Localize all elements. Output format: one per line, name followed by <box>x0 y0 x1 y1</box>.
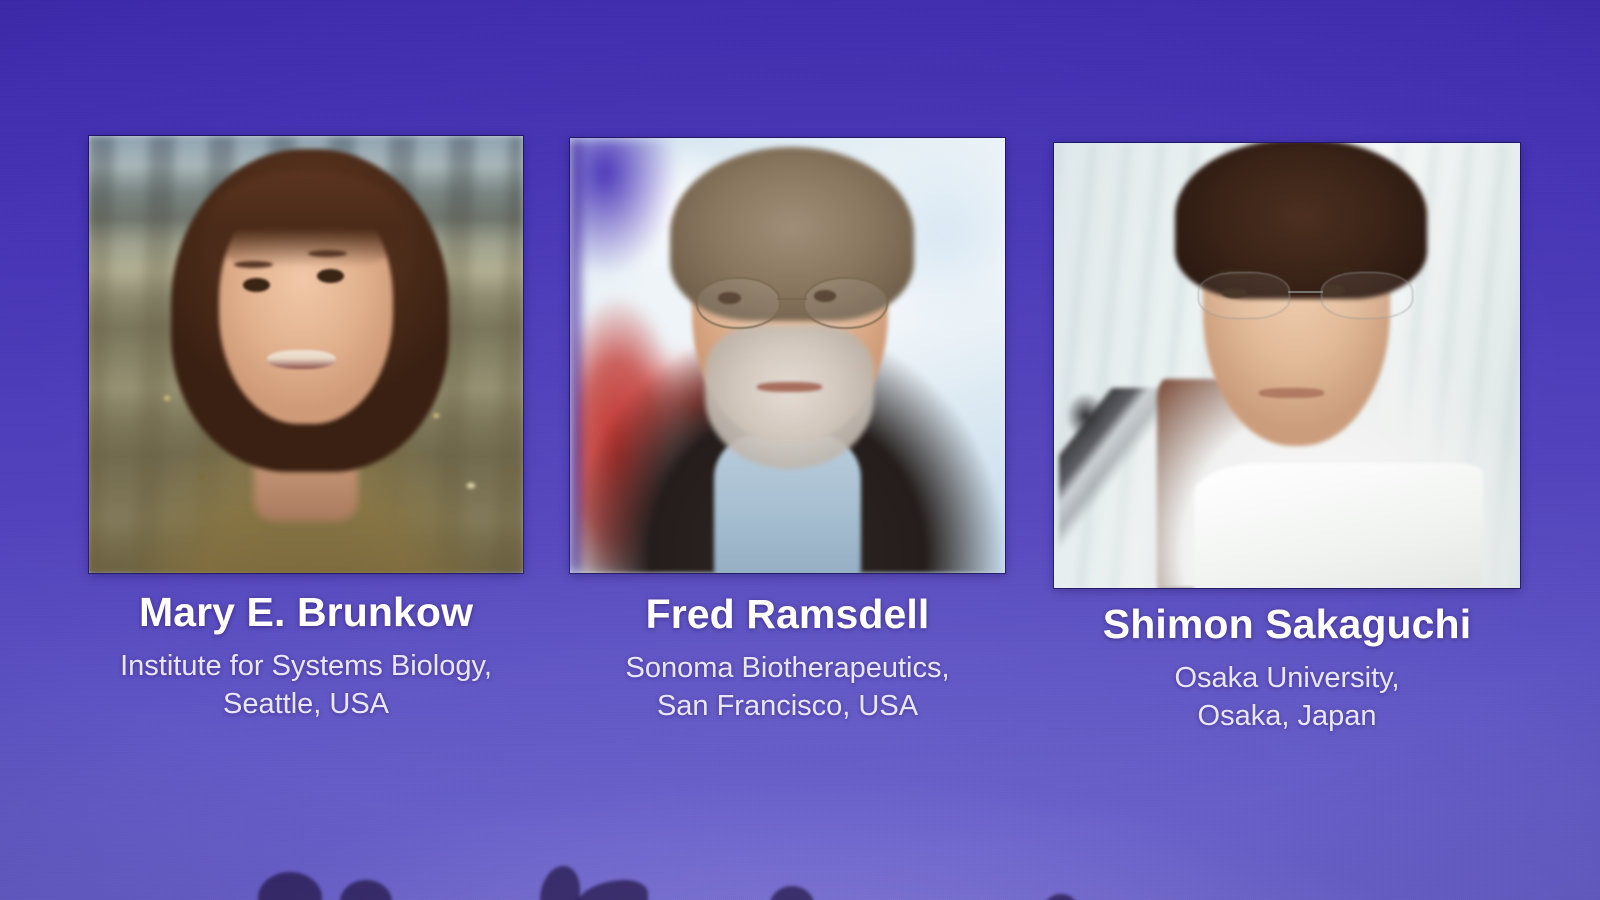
portrait-beard <box>705 325 875 469</box>
eyeglass-lens-left <box>696 277 780 329</box>
laureate-card-shimon-sakaguchi: Shimon Sakaguchi Osaka University, Osaka… <box>1054 143 1520 588</box>
eyeglass-lens-left <box>1198 272 1290 319</box>
portrait-white-shirt <box>1194 463 1483 588</box>
affiliation-line-2: Seattle, USA <box>89 686 523 723</box>
eyeglass-lens-right <box>803 277 887 329</box>
laureate-card-fred-ramsdell: Fred Ramsdell Sonoma Biotherapeutics, Sa… <box>570 138 1005 573</box>
laureate-name: Shimon Sakaguchi <box>1054 603 1520 646</box>
laureate-caption-mary-e-brunkow: Mary E. Brunkow Institute for Systems Bi… <box>89 591 523 723</box>
presentation-slide: Mary E. Brunkow Institute for Systems Bi… <box>0 0 1600 900</box>
portrait-eye-left <box>243 278 270 292</box>
laureate-caption-shimon-sakaguchi: Shimon Sakaguchi Osaka University, Osaka… <box>1054 603 1520 735</box>
laureate-photo-mary-e-brunkow <box>89 136 523 573</box>
portrait-eyeglasses <box>1198 272 1412 317</box>
affiliation-line-2: Osaka, Japan <box>1054 698 1520 735</box>
laureate-affiliation: Institute for Systems Biology, Seattle, … <box>89 648 523 723</box>
affiliation-line-1: Osaka University, <box>1054 660 1520 697</box>
eyeglass-lens-right <box>1321 272 1413 319</box>
eyeglass-bridge <box>1288 291 1322 293</box>
laureate-caption-fred-ramsdell: Fred Ramsdell Sonoma Biotherapeutics, Sa… <box>570 593 1005 725</box>
portrait-eyebrow-left <box>234 261 273 268</box>
laureate-affiliation: Sonoma Biotherapeutics, San Francisco, U… <box>570 650 1005 725</box>
laureate-name: Fred Ramsdell <box>570 593 1005 636</box>
laureate-affiliation: Osaka University, Osaka, Japan <box>1054 660 1520 735</box>
laureate-photo-fred-ramsdell <box>570 138 1005 573</box>
affiliation-line-1: Sonoma Biotherapeutics, <box>570 650 1005 687</box>
portrait-fringe <box>211 171 402 267</box>
laureate-photo-shimon-sakaguchi <box>1054 143 1520 588</box>
laureate-name: Mary E. Brunkow <box>89 591 523 634</box>
portrait-mouth <box>757 382 822 392</box>
eyeglass-bridge <box>777 298 808 300</box>
laureate-card-mary-e-brunkow: Mary E. Brunkow Institute for Systems Bi… <box>89 136 523 573</box>
portrait-mouth <box>1259 388 1324 398</box>
portrait-eyeglasses <box>696 277 887 325</box>
affiliation-line-1: Institute for Systems Biology, <box>89 648 523 685</box>
affiliation-line-2: San Francisco, USA <box>570 688 1005 725</box>
portrait-smiling-mouth <box>267 350 336 369</box>
